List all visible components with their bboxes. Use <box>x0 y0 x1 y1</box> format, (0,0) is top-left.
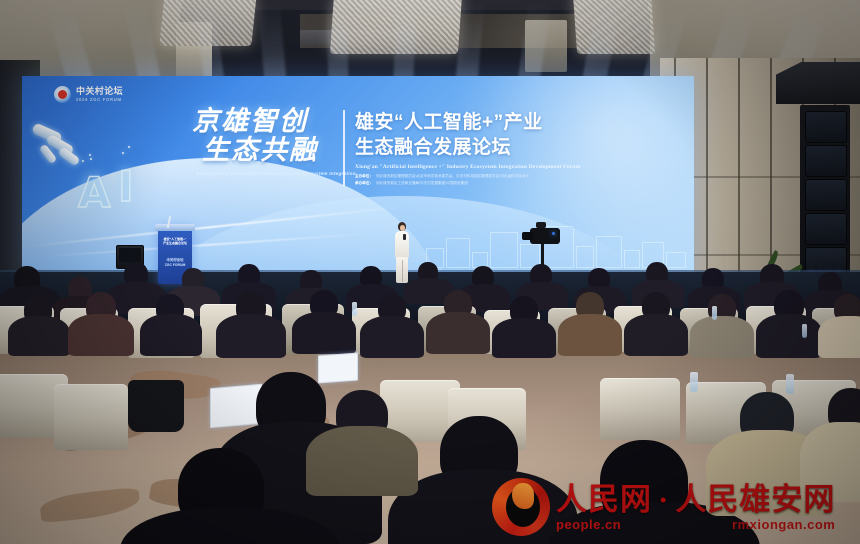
water-bottle <box>352 302 357 316</box>
watermark-url-right: rmxiongan.com <box>732 518 835 531</box>
main-title-english: Xiong'an "Artificial Intelligence +" Ind… <box>355 164 655 170</box>
backpack <box>128 380 184 432</box>
main-title-line-1: 雄安“人工智能+”产业 <box>355 110 655 135</box>
podium-title-text: 雄安“人工智能+”产业生态融合论坛 <box>161 237 189 245</box>
podium-top <box>155 224 195 231</box>
zgc-logo-name-cn: 中关村论坛 <box>76 87 123 96</box>
organizer-label: 承办单位： <box>355 181 373 186</box>
organizer-value: 河北雄安新区工信和交通局\中关村发展集团\中国雄安集团 <box>376 181 468 186</box>
watermark-text: 人民网·人民雄安网 <box>556 484 835 515</box>
handheld-microphone <box>403 234 406 240</box>
water-bottle <box>802 324 807 338</box>
water-bottle <box>712 306 717 320</box>
people-cn-logo-icon <box>492 478 550 536</box>
chandelier-2 <box>330 0 462 54</box>
watermark-url-left: people.cn <box>556 518 621 531</box>
calligraphy-line-1: 京雄智创 <box>192 108 377 136</box>
laptop <box>318 353 358 384</box>
water-bottle <box>786 374 794 394</box>
organizer-label: 主办单位： <box>355 174 373 179</box>
watermark-separator: · <box>658 482 669 517</box>
main-title-block: 雄安“人工智能+”产业 生态融合发展论坛 Xiong'an "Artificia… <box>355 110 655 186</box>
organizer-row: 承办单位： 河北雄安新区工信和交通局\中关村发展集团\中国雄安集团 <box>355 181 655 186</box>
watermark: 人民网·人民雄安网 people.cn rmxiongan.com <box>492 478 835 536</box>
organizer-list: 主办单位： 河北雄安新区管理委员会\北京市科学技术委员会、中关村科技园区管理委员… <box>355 174 655 186</box>
water-bottle <box>690 372 698 392</box>
zgc-logo-mark <box>54 86 71 103</box>
calligraphy-line-2: 生态共融 <box>202 136 377 166</box>
chandelier-3 <box>573 0 655 54</box>
watermark-name-left: 人民网 <box>556 482 652 517</box>
ceiling-lightbox-3 <box>525 20 567 72</box>
organizer-value: 河北雄安新区管理委员会\北京市科学技术委员会、中关村科技园区管理委员会\河北省科… <box>376 174 529 179</box>
laptop <box>210 384 262 429</box>
chandelier-1 <box>159 0 256 46</box>
title-divider <box>343 110 345 186</box>
organizer-row: 主办单位： 河北雄安新区管理委员会\北京市科学技术委员会、中关村科技园区管理委员… <box>355 174 655 179</box>
watermark-name-right: 人民雄安网 <box>675 482 835 517</box>
screenshot-root: A I 中关村论坛 2026 ZGC FORUM 京雄智创 生态共融 Beiji… <box>0 0 860 544</box>
zgc-logo-name-en: 2026 ZGC FORUM <box>76 98 123 102</box>
zgc-forum-logo: 中关村论坛 2026 ZGC FORUM <box>54 86 123 103</box>
calligraphy-english: Beijing-Xiong'an Intelligent Innovation … <box>196 171 377 176</box>
calligraphy-title: 京雄智创 生态共融 Beijing-Xiong'an Intelligent I… <box>192 108 377 176</box>
main-title-line-2: 生态融合发展论坛 <box>355 135 655 160</box>
